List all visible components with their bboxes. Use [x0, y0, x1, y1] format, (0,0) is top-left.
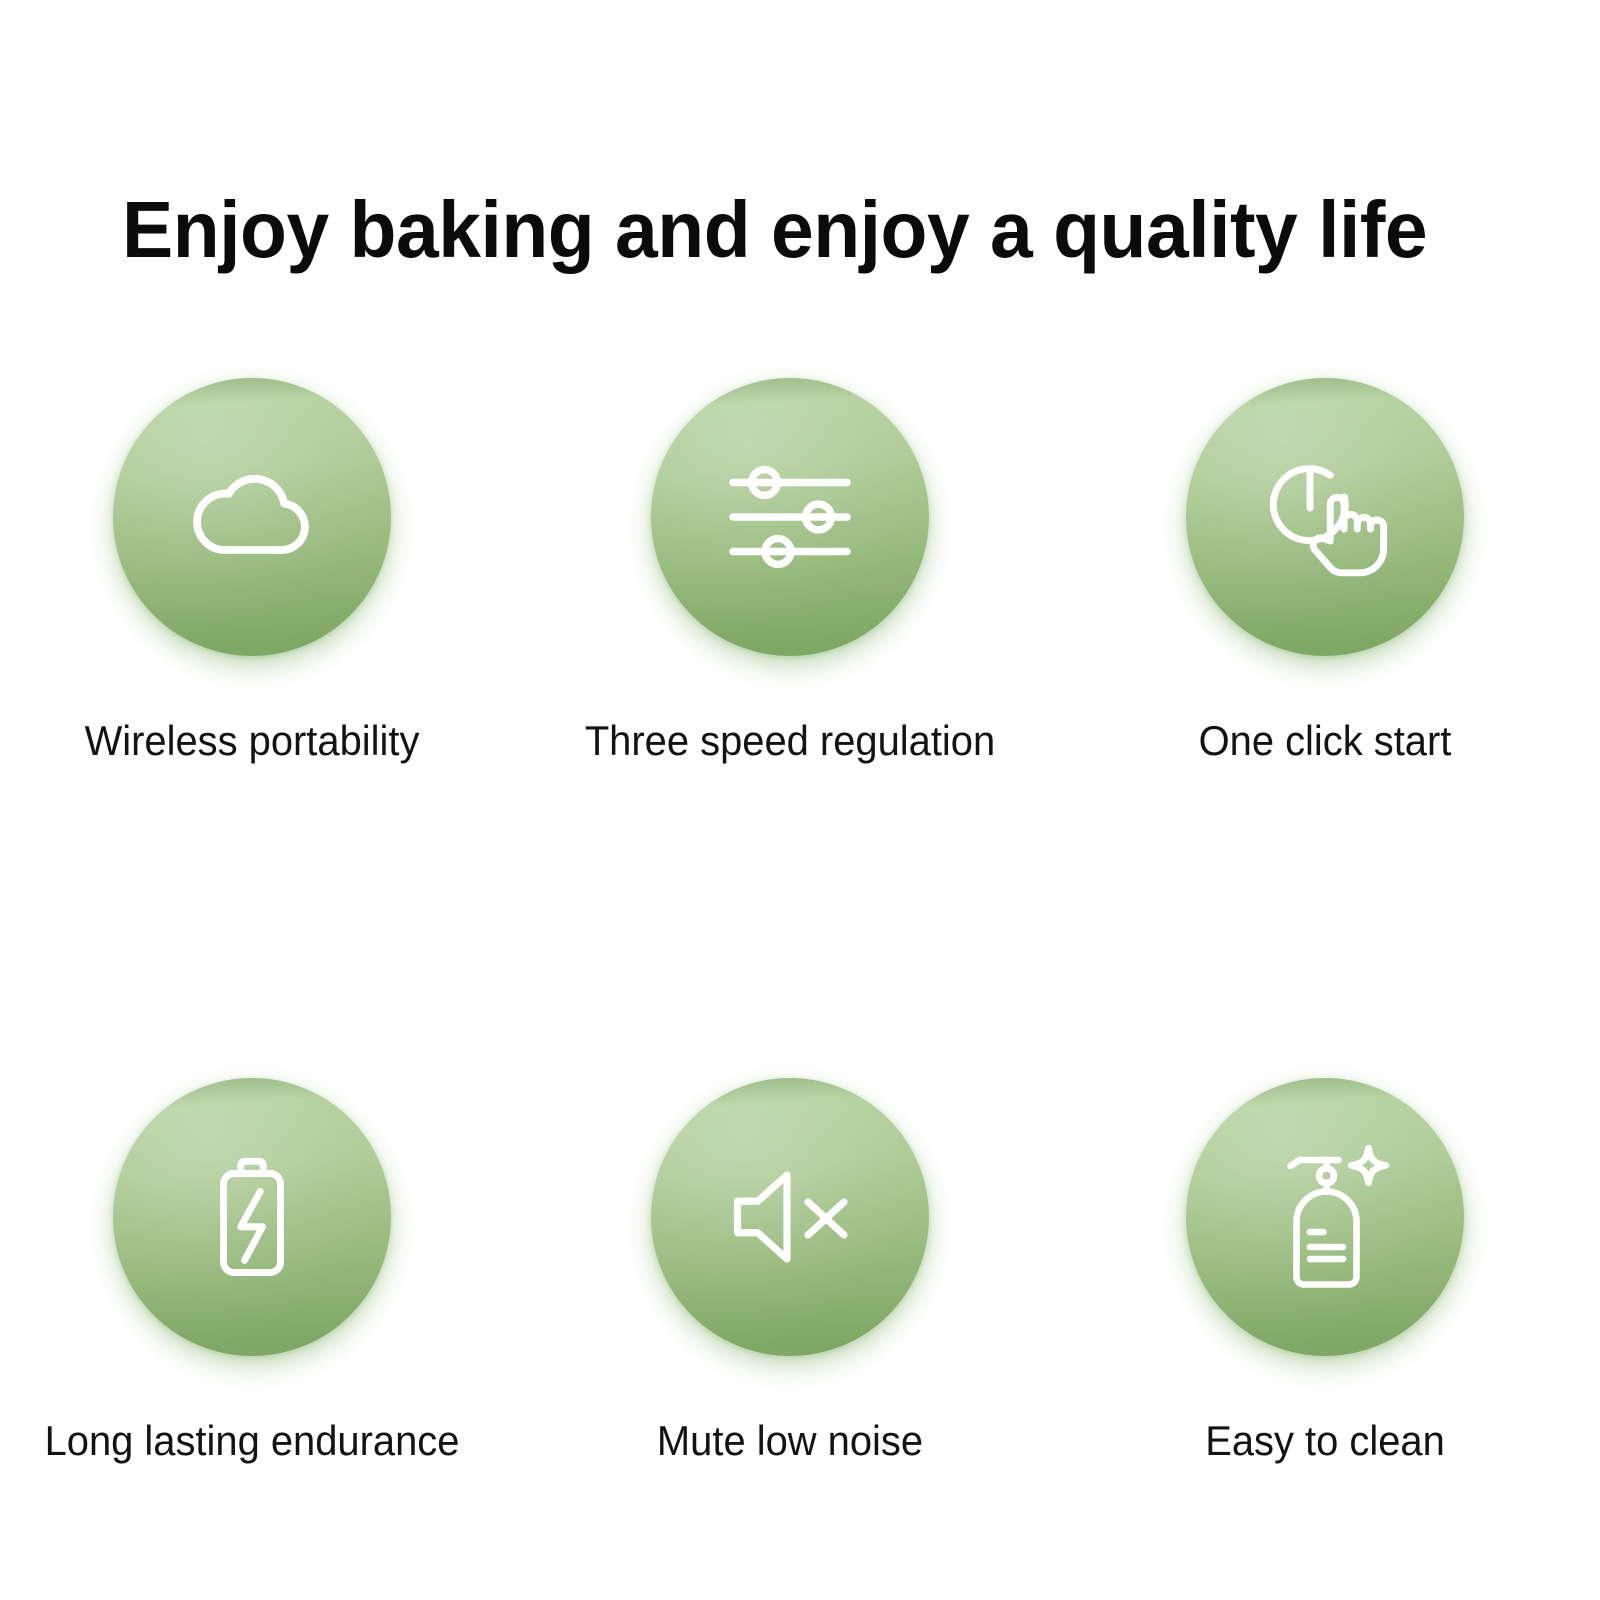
speaker-mute-icon	[715, 1142, 865, 1292]
feature-item-one-click-start[interactable]: One click start	[1105, 340, 1545, 764]
feature-label: Easy to clean	[1116, 1418, 1534, 1464]
cloud-icon	[177, 442, 327, 592]
feature-icon-badge	[1186, 378, 1464, 656]
feature-label: Wireless portability	[43, 718, 461, 764]
sliders-icon	[715, 442, 865, 592]
feature-grid: Wireless portability	[0, 340, 1600, 1380]
feature-label: Mute low noise	[581, 1418, 999, 1464]
feature-row-bottom: Long lasting endurance Mute low noise	[0, 1040, 1600, 1380]
power-touch-icon	[1250, 442, 1400, 592]
feature-icon-badge	[651, 1078, 929, 1356]
feature-label: Long lasting endurance	[43, 1418, 461, 1464]
feature-item-long-lasting-endurance[interactable]: Long lasting endurance	[32, 1040, 472, 1464]
feature-icon-badge	[113, 1078, 391, 1356]
spray-bottle-sparkle-icon	[1250, 1142, 1400, 1292]
feature-item-three-speed-regulation[interactable]: Three speed regulation	[570, 340, 1010, 764]
battery-charge-icon	[177, 1142, 327, 1292]
feature-item-easy-to-clean[interactable]: Easy to clean	[1105, 1040, 1545, 1464]
feature-icon-badge	[1186, 1078, 1464, 1356]
feature-item-mute-low-noise[interactable]: Mute low noise	[570, 1040, 1010, 1464]
feature-icon-badge	[651, 378, 929, 656]
feature-item-wireless-portability[interactable]: Wireless portability	[32, 340, 472, 764]
page-title: Enjoy baking and enjoy a quality life	[122, 190, 1427, 270]
feature-icon-badge	[113, 378, 391, 656]
feature-label: Three speed regulation	[581, 718, 999, 764]
feature-label: One click start	[1116, 718, 1534, 764]
feature-row-top: Wireless portability	[0, 340, 1600, 680]
feature-highlights-page: Enjoy baking and enjoy a quality life Wi…	[0, 0, 1600, 1600]
